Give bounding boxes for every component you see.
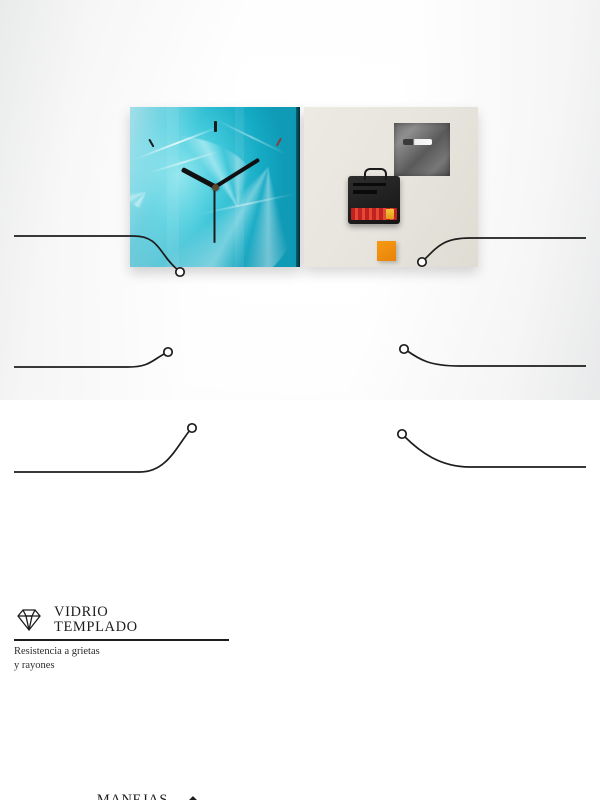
- feature-rule: [14, 639, 229, 641]
- connector-edges: [14, 430, 190, 472]
- feature-subtitle-line2: y rayones: [14, 660, 55, 671]
- feature-handles: MANEJAS METAL Permiten una fácil instala…: [0, 793, 208, 800]
- feature-glass: VIDRIO TEMPLADO Resistencia a grietas y …: [14, 605, 229, 672]
- hanger-loop: [364, 168, 387, 180]
- battery-label: [351, 208, 397, 220]
- clock-center-pin: [212, 184, 219, 191]
- diamond-icon: [14, 607, 44, 633]
- metal-hanger-plate: [394, 123, 450, 176]
- clock-face-panel: [130, 107, 300, 267]
- connector-print: [14, 353, 166, 367]
- feature-title-line2: TEMPLADO: [54, 619, 138, 635]
- product-image: [130, 107, 478, 267]
- mechanism-detail: [353, 190, 377, 193]
- clock-marker: [214, 121, 216, 187]
- connector-spacer: [404, 436, 586, 467]
- foam-spacer: [377, 241, 396, 260]
- clock-mechanism: [348, 176, 400, 224]
- connector-mechanism: [406, 350, 586, 366]
- feature-subtitle-line1: Resistencia a grietas: [14, 646, 100, 657]
- clock-edge: [296, 107, 300, 267]
- infographic-canvas: VIDRIO TEMPLADO Resistencia a grietas y …: [0, 0, 600, 400]
- clock-marker: [130, 253, 150, 255]
- mechanism-detail: [353, 183, 386, 187]
- clock-back-panel: [304, 107, 478, 267]
- feature-title-line1: MANEJAS: [97, 792, 168, 800]
- feature-title-line1: VIDRIO: [54, 604, 108, 620]
- picture-hanger-icon: [178, 796, 208, 800]
